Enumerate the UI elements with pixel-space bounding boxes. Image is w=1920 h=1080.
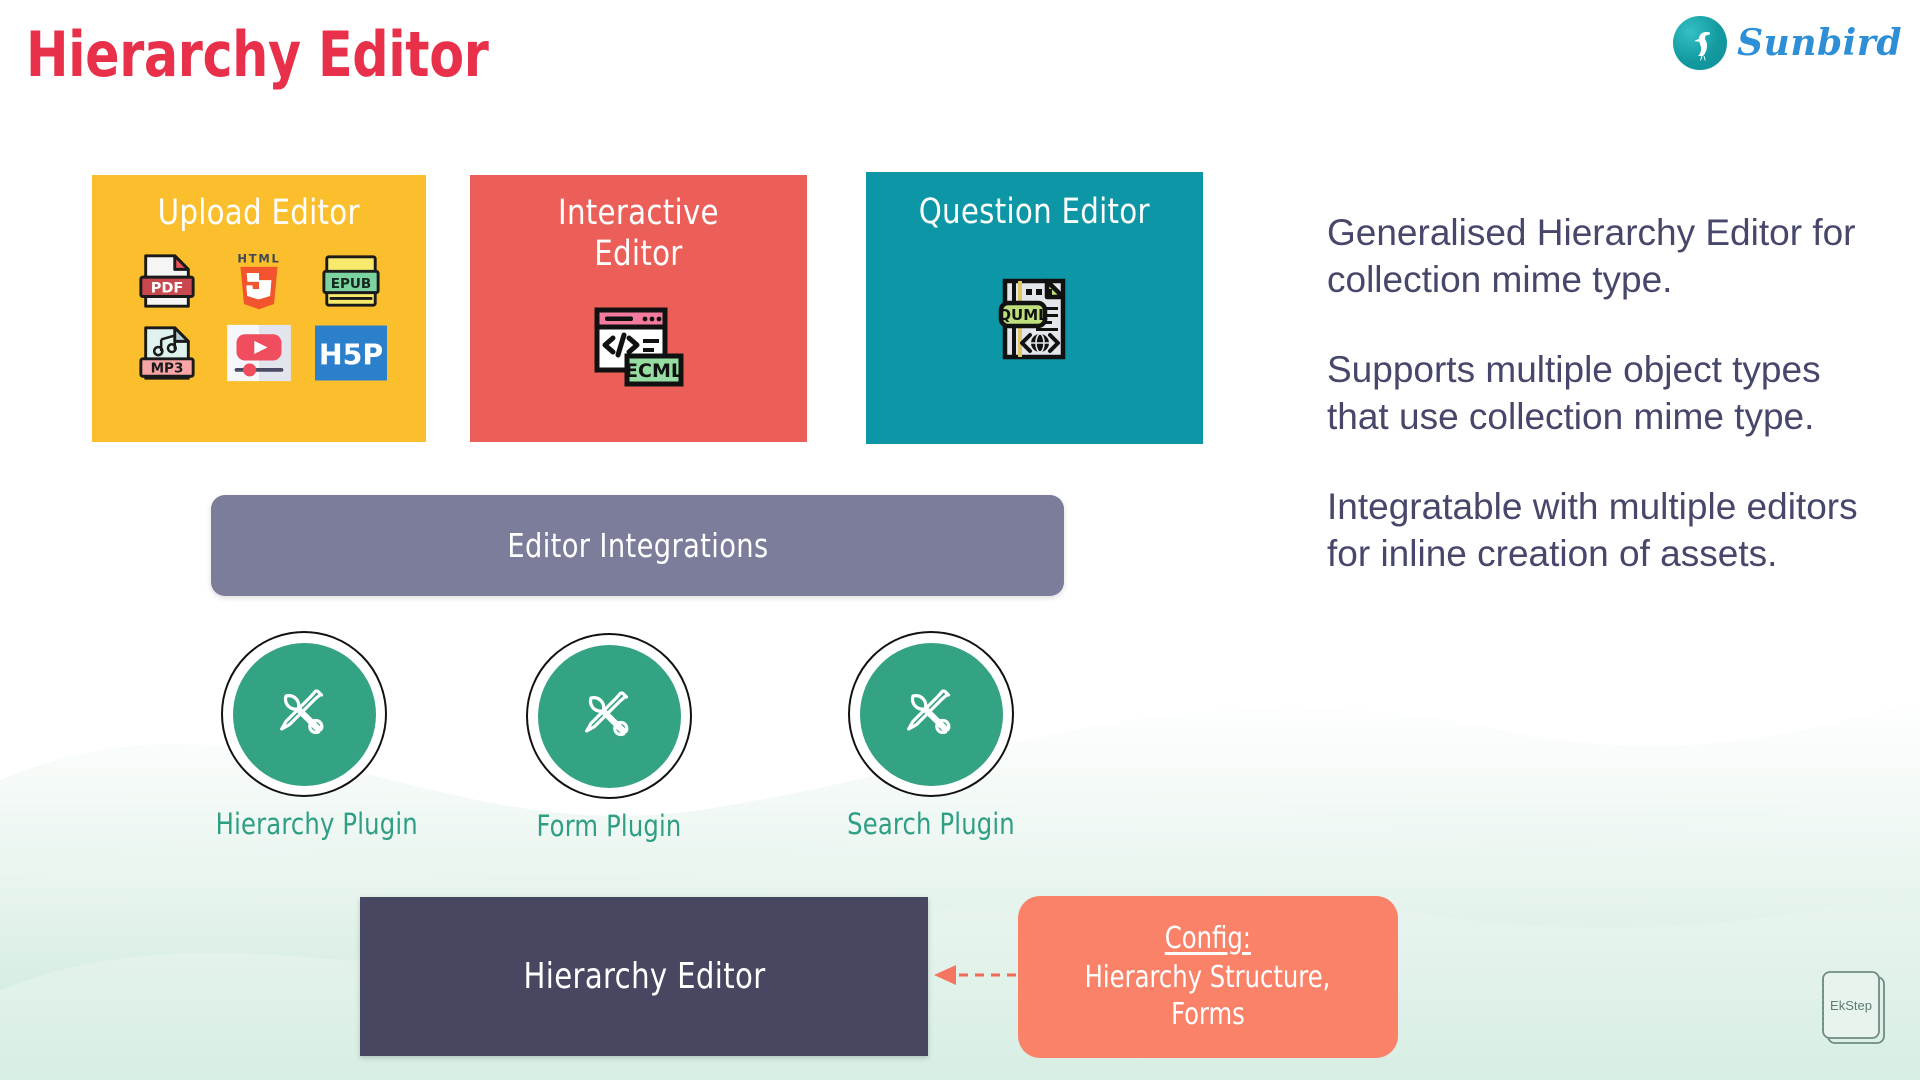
svg-text:HTML: HTML xyxy=(237,252,280,266)
sunbird-bird-icon xyxy=(1673,16,1727,70)
tools-wrench-screwdriver-icon xyxy=(233,643,376,786)
svg-text:PDF: PDF xyxy=(151,281,184,297)
plugin-hierarchy[interactable]: Hierarchy Plugin xyxy=(209,631,399,841)
sunbird-logo: Sunbird xyxy=(1673,16,1902,70)
ecml-code-window-icon: ECML xyxy=(584,302,694,392)
epub-book-icon: EPUB xyxy=(309,248,393,314)
dashed-left-arrow xyxy=(928,955,1020,995)
svg-text:EPUB: EPUB xyxy=(331,276,372,292)
svg-text:ECML: ECML xyxy=(625,360,683,382)
card-question-editor-title: Question Editor xyxy=(919,192,1150,233)
ekstep-logo: EkStep xyxy=(1812,963,1894,1059)
description-paragraph-2: Supports multiple object types that use … xyxy=(1327,347,1887,440)
tools-wrench-screwdriver-icon xyxy=(538,645,681,788)
hierarchy-editor-box[interactable]: Hierarchy Editor xyxy=(360,897,928,1056)
card-interactive-title-line1: Interactive xyxy=(558,193,719,234)
video-player-icon xyxy=(217,320,301,386)
hierarchy-editor-box-label: Hierarchy Editor xyxy=(523,956,765,997)
config-box-line1: Hierarchy Structure, xyxy=(1085,960,1331,997)
plugin-search-label: Search Plugin xyxy=(843,807,1020,841)
svg-text:MP3: MP3 xyxy=(151,361,184,377)
plugin-search[interactable]: Search Plugin xyxy=(836,631,1026,841)
editor-integrations-label: Editor Integrations xyxy=(507,526,768,565)
plugin-search-ring xyxy=(848,631,1014,797)
pdf-file-icon: PDF xyxy=(125,248,209,314)
page-title: Hierarchy Editor xyxy=(26,18,488,91)
html5-icon: HTML xyxy=(217,248,301,314)
tools-wrench-screwdriver-icon xyxy=(860,643,1003,786)
config-box-heading: Config: xyxy=(1165,921,1251,958)
card-interactive-editor[interactable]: Interactive Editor ECML xyxy=(470,175,807,442)
plugin-form-ring xyxy=(526,633,692,799)
plugin-form[interactable]: Form Plugin xyxy=(514,633,704,843)
slide-canvas: Hierarchy Editor Sunbird Upload Editor P… xyxy=(0,0,1920,1080)
description-panel: Generalised Hierarchy Editor for collect… xyxy=(1327,210,1887,578)
question-editor-icon-grid: QUML xyxy=(985,269,1085,369)
quml-document-icon: QUML xyxy=(985,269,1085,369)
card-upload-editor[interactable]: Upload Editor PDF HTML xyxy=(92,175,426,442)
config-box[interactable]: Config: Hierarchy Structure, Forms xyxy=(1018,896,1398,1058)
card-interactive-title-line2: Editor xyxy=(558,234,719,275)
ekstep-logo-label: EkStep xyxy=(1830,998,1872,1013)
card-question-editor[interactable]: Question Editor QUML xyxy=(866,172,1203,444)
plugin-hierarchy-ring xyxy=(221,631,387,797)
description-paragraph-1: Generalised Hierarchy Editor for collect… xyxy=(1327,210,1887,303)
svg-text:QUML: QUML xyxy=(998,306,1048,324)
plugin-form-label: Form Plugin xyxy=(521,809,698,843)
mp3-file-icon: MP3 xyxy=(125,320,209,386)
sunbird-wordmark: Sunbird xyxy=(1737,22,1902,64)
plugin-hierarchy-label: Hierarchy Plugin xyxy=(216,807,393,841)
card-upload-editor-title: Upload Editor xyxy=(158,193,360,234)
card-interactive-editor-title: Interactive Editor xyxy=(558,193,719,276)
interactive-editor-icon-grid: ECML xyxy=(584,302,694,392)
h5p-icon: H5P xyxy=(309,320,393,386)
svg-text:H5P: H5P xyxy=(319,339,383,372)
editor-integrations-bar[interactable]: Editor Integrations xyxy=(211,495,1064,596)
config-box-line2: Forms xyxy=(1171,997,1245,1034)
description-paragraph-3: Integratable with multiple editors for i… xyxy=(1327,484,1887,577)
upload-editor-icon-grid: PDF HTML EPUB xyxy=(92,248,426,386)
